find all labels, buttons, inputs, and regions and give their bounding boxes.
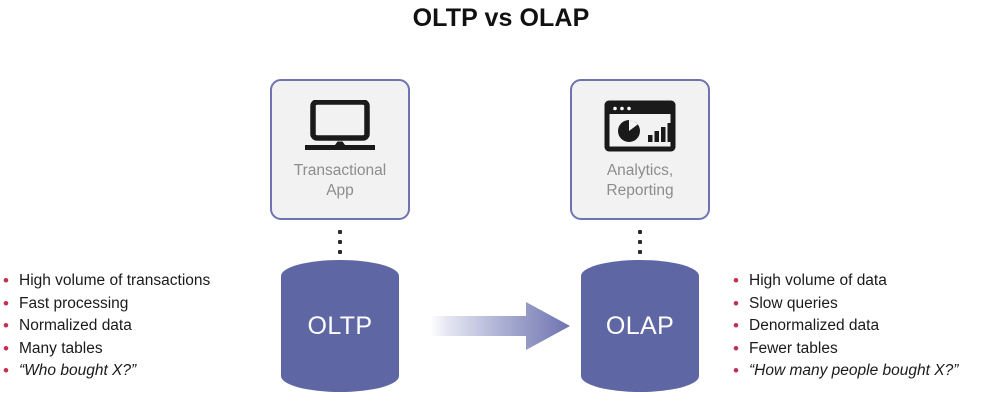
card-label-analytics-reporting: Analytics, Reporting — [606, 161, 673, 201]
database-label-olap: OLAP — [581, 260, 699, 392]
bullet-marker-icon: • — [733, 338, 749, 361]
bullet-marker-icon: • — [3, 338, 19, 361]
bullet-marker-icon: • — [733, 315, 749, 338]
connector-dot — [338, 230, 342, 234]
list-item: • High volume of data — [733, 270, 998, 293]
connector-dot — [638, 230, 642, 234]
list-item: • High volume of transactions — [3, 270, 253, 293]
card-transactional-app[interactable]: Transactional App — [270, 79, 410, 220]
list-item-label: Many tables — [19, 338, 253, 361]
list-item-label: Denormalized data — [749, 315, 998, 338]
card-analytics-reporting[interactable]: Analytics, Reporting — [570, 79, 710, 220]
list-item-label: High volume of data — [749, 270, 998, 293]
laptop-icon — [303, 98, 377, 154]
list-item: • “Who bought X?” — [3, 360, 253, 383]
card-label-line1: Transactional — [294, 161, 386, 181]
list-item-label: Normalized data — [19, 315, 253, 338]
connector-dot — [338, 250, 342, 254]
list-item: • “How many people bought X?” — [733, 360, 998, 383]
list-item-label: Fast processing — [19, 293, 253, 316]
bullet-marker-icon: • — [733, 293, 749, 316]
analytics-dashboard-icon — [603, 98, 677, 154]
list-item: • Fewer tables — [733, 338, 998, 361]
list-item: • Fast processing — [3, 293, 253, 316]
database-label-oltp: OLTP — [281, 260, 399, 392]
connector-dot — [338, 240, 342, 244]
bullet-list-oltp: • High volume of transactions • Fast pro… — [3, 270, 253, 383]
connector-dot — [638, 240, 642, 244]
bullet-marker-icon: • — [3, 315, 19, 338]
flow-arrow-oltp-to-olap — [430, 302, 570, 350]
bullet-marker-icon: • — [733, 270, 749, 293]
list-item-label: “Who bought X?” — [19, 360, 253, 383]
page-title: OLTP vs OLAP — [0, 4, 1002, 33]
card-label-transactional-app: Transactional App — [294, 161, 386, 201]
list-item: • Normalized data — [3, 315, 253, 338]
database-cylinder-oltp[interactable]: OLTP — [281, 260, 399, 392]
list-item-label: Fewer tables — [749, 338, 998, 361]
list-item: • Denormalized data — [733, 315, 998, 338]
list-item: • Slow queries — [733, 293, 998, 316]
connector-dots-olap — [635, 230, 645, 264]
bullet-marker-icon: • — [3, 270, 19, 293]
bullet-marker-icon: • — [3, 360, 19, 383]
card-label-line1: Analytics, — [606, 161, 673, 181]
list-item-label: Slow queries — [749, 293, 998, 316]
card-label-line2: App — [294, 181, 386, 201]
list-item-label: High volume of transactions — [19, 270, 253, 293]
list-item: • Many tables — [3, 338, 253, 361]
bullet-list-olap: • High volume of data • Slow queries • D… — [733, 270, 998, 383]
bullet-marker-icon: • — [3, 293, 19, 316]
card-label-line2: Reporting — [606, 181, 673, 201]
bullet-marker-icon: • — [733, 360, 749, 383]
connector-dots-oltp — [335, 230, 345, 264]
list-item-label: “How many people bought X?” — [749, 360, 998, 383]
database-cylinder-olap[interactable]: OLAP — [581, 260, 699, 392]
connector-dot — [638, 250, 642, 254]
